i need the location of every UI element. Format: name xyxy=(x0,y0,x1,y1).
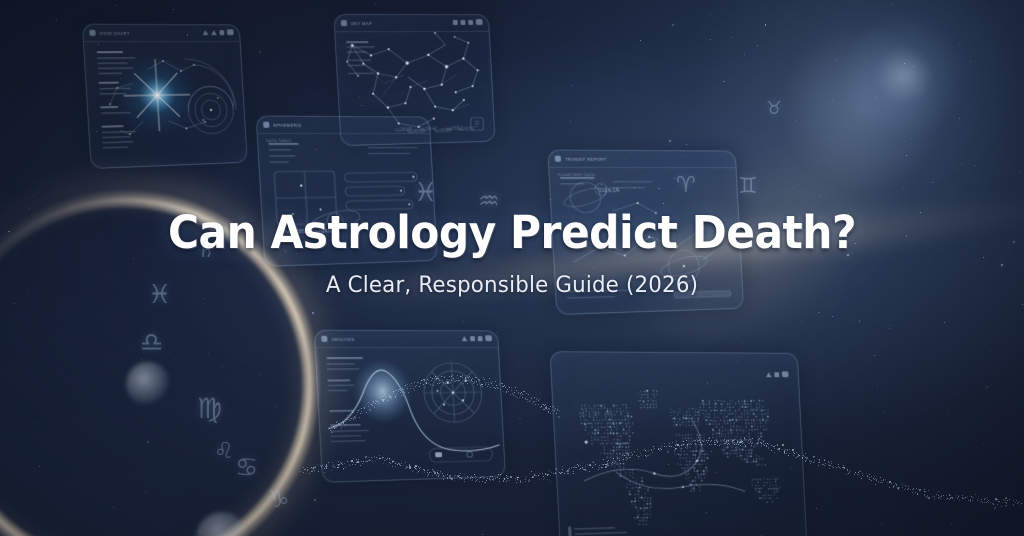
zodiac-glyph-leo: ♌ xyxy=(214,441,234,463)
page-title: Can Astrology Predict Death? xyxy=(31,206,994,259)
hero-banner: STAR CHART xyxy=(0,0,1024,536)
world-map-graphic xyxy=(551,352,807,536)
zodiac-glyph-virgo: ♍ xyxy=(197,395,222,423)
page-subtitle: A Clear, Responsible Guide (2026) xyxy=(15,273,1008,298)
waveform-graphic xyxy=(315,331,505,482)
waveform-analysis-panel[interactable]: ANALYSIS xyxy=(314,330,506,483)
arc-orb-upper xyxy=(126,362,170,406)
zodiac-glyph-capricorn: ♑ xyxy=(268,487,290,511)
star-chart-panel[interactable]: STAR CHART xyxy=(82,24,248,169)
zodiac-glyph-cancer: ♋ xyxy=(235,455,258,481)
zodiac-glyph-taurus: ♉ xyxy=(766,100,782,118)
hero-text-block: Can Astrology Predict Death? A Clear, Re… xyxy=(0,206,1024,298)
zodiac-glyph-gemini: ♊ xyxy=(738,176,758,198)
zodiac-glyph-libra: ♎ xyxy=(140,330,163,356)
svg-text:\u2652: \u2652 xyxy=(458,126,475,132)
world-map-panel[interactable] xyxy=(549,351,807,536)
arc-orb-lower xyxy=(196,512,248,536)
star-chart-graphic xyxy=(83,25,247,168)
nebula-glow xyxy=(760,0,1024,210)
